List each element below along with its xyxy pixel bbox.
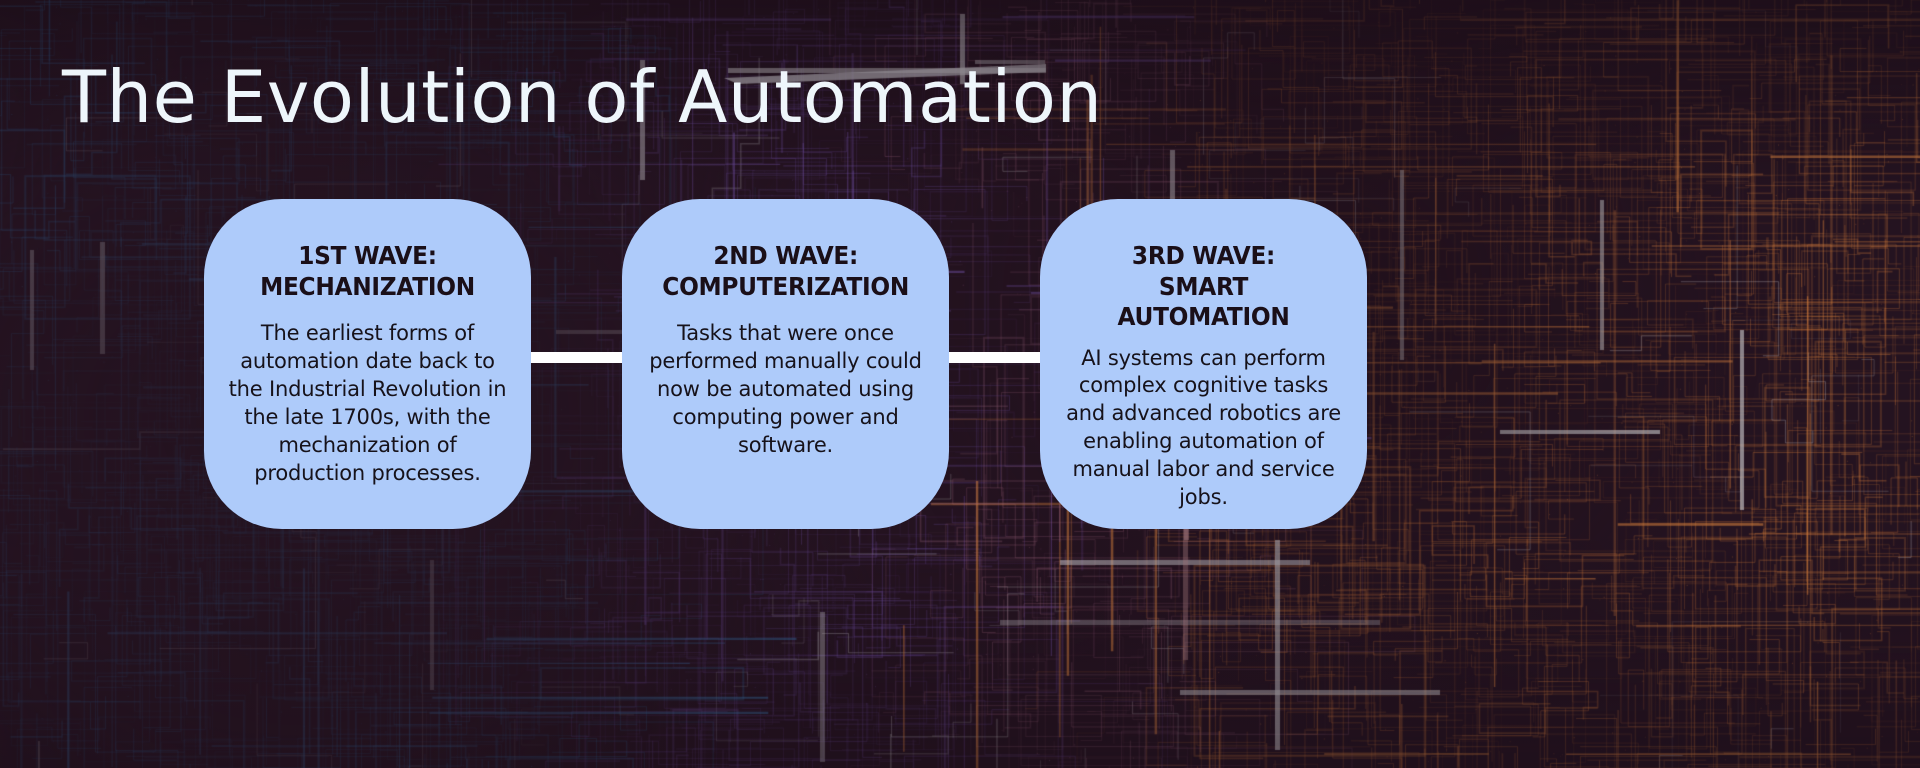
wave-card-3-body: AI systems can perform complex cognitive… xyxy=(1064,345,1343,513)
wave-card-1-title: 1ST WAVE:MECHANIZATION xyxy=(260,241,475,302)
page-title: The Evolution of Automation xyxy=(62,60,1103,136)
wave-card-list: 1ST WAVE:MECHANIZATION The earliest form… xyxy=(0,199,1920,529)
wave-card-2-body: Tasks that were once performed manually … xyxy=(646,320,925,460)
wave-card-3-title: 3RD WAVE:SMARTAUTOMATION xyxy=(1117,241,1289,333)
wave-card-1: 1ST WAVE:MECHANIZATION The earliest form… xyxy=(204,199,531,529)
infographic-stage: The Evolution of Automation 1ST WAVE:MEC… xyxy=(0,0,1920,768)
wave-card-2: 2ND WAVE:COMPUTERIZATION Tasks that were… xyxy=(622,199,949,529)
wave-card-3: 3RD WAVE:SMARTAUTOMATION AI systems can … xyxy=(1040,199,1367,529)
wave-card-2-title: 2ND WAVE:COMPUTERIZATION xyxy=(662,241,909,302)
wave-card-1-body: The earliest forms of automation date ba… xyxy=(228,320,507,488)
